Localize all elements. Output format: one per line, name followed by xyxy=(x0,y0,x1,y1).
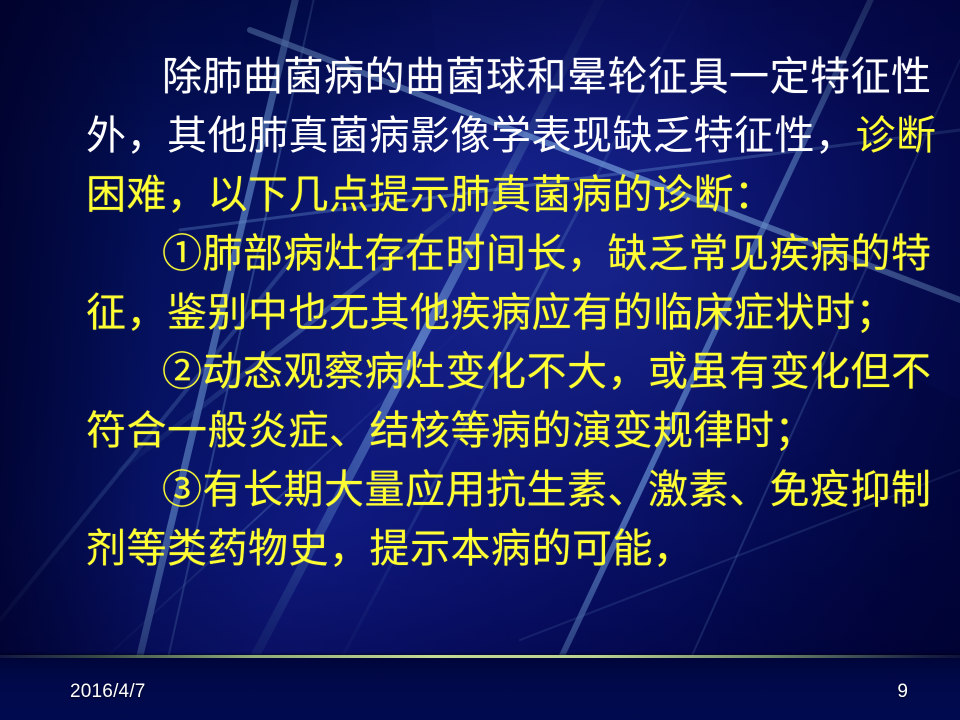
footer-divider-line xyxy=(0,655,960,658)
presentation-slide: 除肺曲菌病的曲菌球和晕轮征具一定特征性 外，其他肺真菌病影像学表现缺乏特征性，诊… xyxy=(0,0,960,720)
text-line-item-2: ②动态观察病灶变化不大，或虽有变化但不 xyxy=(86,343,886,402)
text-line: 剂等类药物史，提示本病的可能， xyxy=(86,520,886,579)
footer-page-number: 9 xyxy=(897,682,908,701)
text-line: 除肺曲菌病的曲菌球和晕轮征具一定特征性 xyxy=(86,48,886,107)
text-segment-white: 外，其他肺真菌病影像学表现缺乏特征性， xyxy=(86,113,856,159)
text-line: 符合一般炎症、结核等病的演变规律时； xyxy=(86,402,886,461)
footer-date: 2016/4/7 xyxy=(70,682,146,701)
slide-body-text: 除肺曲菌病的曲菌球和晕轮征具一定特征性 外，其他肺真菌病影像学表现缺乏特征性，诊… xyxy=(86,48,886,579)
text-line-item-3: ③有长期大量应用抗生素、激素、免疫抑制 xyxy=(86,461,886,520)
text-line: 征，鉴别中也无其他疾病应有的临床症状时； xyxy=(86,284,886,343)
text-line-item-1: ①肺部病灶存在时间长，缺乏常见疾病的特 xyxy=(86,225,886,284)
text-line: 外，其他肺真菌病影像学表现缺乏特征性，诊断 xyxy=(86,107,886,166)
text-segment-yellow: 诊断 xyxy=(856,113,937,159)
text-line: 困难，以下几点提示肺真菌病的诊断： xyxy=(86,166,886,225)
